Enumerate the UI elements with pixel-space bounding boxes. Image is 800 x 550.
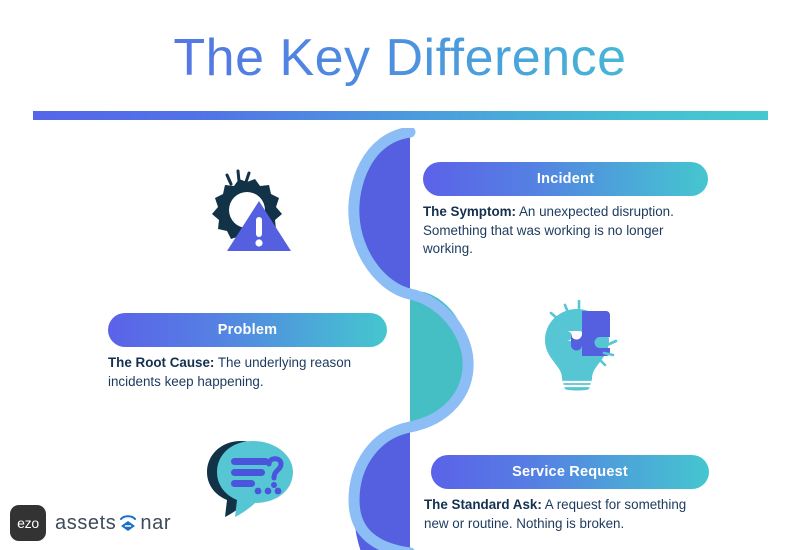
lead-problem: The Root Cause: (108, 355, 214, 370)
sonar-icon (117, 512, 139, 534)
wordmark-part-one: assets (55, 512, 116, 535)
pill-incident[interactable]: Incident (423, 162, 708, 196)
ezo-assetsonar-logo: ezo assets nar (10, 505, 171, 541)
title-divider-bar (33, 111, 768, 120)
lead-service-request: The Standard Ask: (424, 497, 542, 512)
description-incident: The Symptom: An unexpected disruption. S… (423, 203, 695, 259)
slide-canvas: The Key Difference I (0, 0, 800, 550)
wordmark-part-two: nar (140, 512, 171, 535)
gear-warning-icon (200, 165, 296, 257)
ezo-logo-mark: ezo (10, 505, 46, 541)
lead-incident: The Symptom: (423, 204, 516, 219)
lightbulb-idea-icon (537, 299, 623, 391)
pill-problem[interactable]: Problem (108, 313, 387, 347)
pill-service-request[interactable]: Service Request (431, 455, 709, 489)
speech-bubble-question-icon (203, 437, 301, 521)
page-title: The Key Difference (0, 28, 800, 88)
description-problem: The Root Cause: The underlying reason in… (108, 354, 370, 391)
assetsonar-wordmark: assets nar (55, 512, 171, 535)
description-service-request: The Standard Ask: A request for somethin… (424, 496, 704, 533)
